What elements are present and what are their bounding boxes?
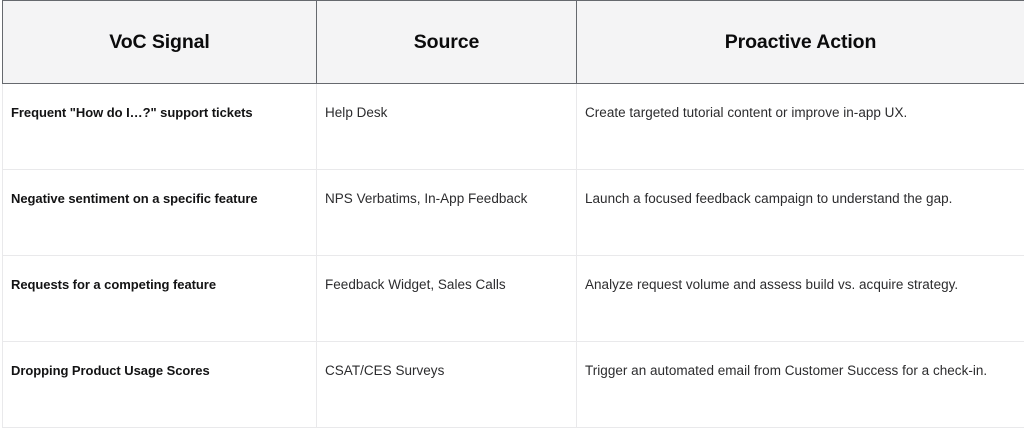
table-row: Negative sentiment on a specific feature…: [3, 170, 1024, 256]
cell-proactive-action-text: Create targeted tutorial content or impr…: [577, 84, 1024, 122]
table-row: Dropping Product Usage Scores CSAT/CES S…: [3, 342, 1024, 428]
table-header: VoC Signal Source Proactive Action: [3, 1, 1024, 84]
cell-source: Help Desk: [317, 84, 577, 170]
cell-proactive-action-text: Analyze request volume and assess build …: [577, 256, 1024, 294]
cell-source-text: CSAT/CES Surveys: [317, 342, 576, 380]
table-row: Requests for a competing feature Feedbac…: [3, 256, 1024, 342]
cell-voc-signal: Requests for a competing feature: [3, 256, 317, 342]
table-header-row: VoC Signal Source Proactive Action: [3, 1, 1024, 84]
cell-voc-signal-text: Requests for a competing feature: [3, 256, 316, 294]
cell-source: CSAT/CES Surveys: [317, 342, 577, 428]
table-row: Frequent "How do I…?" support tickets He…: [3, 84, 1024, 170]
cell-voc-signal: Dropping Product Usage Scores: [3, 342, 317, 428]
cell-proactive-action: Launch a focused feedback campaign to un…: [577, 170, 1024, 256]
column-header-source[interactable]: Source: [317, 1, 577, 84]
cell-proactive-action-text: Launch a focused feedback campaign to un…: [577, 170, 1024, 208]
voc-signal-table: VoC Signal Source Proactive Action Frequ…: [2, 0, 1024, 428]
cell-source-text: Help Desk: [317, 84, 576, 122]
voc-table-container: VoC Signal Source Proactive Action Frequ…: [0, 0, 1024, 427]
cell-proactive-action: Analyze request volume and assess build …: [577, 256, 1024, 342]
cell-voc-signal-text: Negative sentiment on a specific feature: [3, 170, 316, 208]
cell-voc-signal-text: Frequent "How do I…?" support tickets: [3, 84, 316, 122]
cell-source: NPS Verbatims, In-App Feedback: [317, 170, 577, 256]
table-body: Frequent "How do I…?" support tickets He…: [3, 84, 1024, 428]
column-header-voc-signal[interactable]: VoC Signal: [3, 1, 317, 84]
cell-source: Feedback Widget, Sales Calls: [317, 256, 577, 342]
column-header-proactive-action[interactable]: Proactive Action: [577, 1, 1024, 84]
cell-source-text: NPS Verbatims, In-App Feedback: [317, 170, 576, 208]
cell-voc-signal: Negative sentiment on a specific feature: [3, 170, 317, 256]
cell-proactive-action: Trigger an automated email from Customer…: [577, 342, 1024, 428]
cell-voc-signal-text: Dropping Product Usage Scores: [3, 342, 316, 380]
cell-proactive-action: Create targeted tutorial content or impr…: [577, 84, 1024, 170]
cell-source-text: Feedback Widget, Sales Calls: [317, 256, 576, 294]
cell-proactive-action-text: Trigger an automated email from Customer…: [577, 342, 1024, 380]
cell-voc-signal: Frequent "How do I…?" support tickets: [3, 84, 317, 170]
